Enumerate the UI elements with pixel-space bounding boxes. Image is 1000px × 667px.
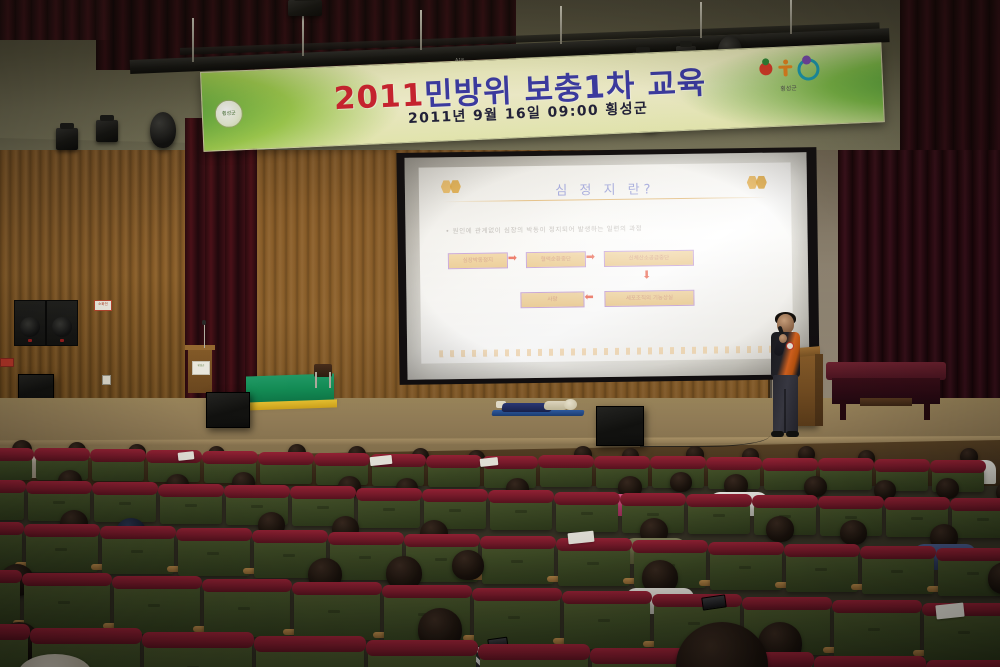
attendee-head: [804, 476, 827, 497]
piano-bench: [860, 398, 912, 406]
stage-light-12: [288, 0, 322, 16]
seat[interactable]: [710, 548, 782, 590]
banner-left-seal: 횡성군: [214, 99, 243, 128]
seat[interactable]: [294, 588, 380, 640]
attendee-head: [452, 550, 484, 580]
seat[interactable]: [358, 494, 420, 528]
piano-leg-left: [840, 400, 846, 420]
flow-box-2: 혈액순환중단: [526, 251, 586, 268]
flow-box-3: 신체산소공급중단: [604, 250, 694, 267]
seat[interactable]: [368, 648, 476, 667]
logo-circle-icon: [797, 58, 820, 81]
paper-sheet: [178, 451, 195, 461]
truss-drop-cable-1: [192, 18, 194, 62]
truss-drop-cable-6: [790, 0, 792, 34]
seat[interactable]: [24, 579, 110, 631]
presentation-slide: 심 정 지 란? • 원인에 관계없이 심장의 박동이 정지되어 발생하는 일련…: [419, 162, 794, 363]
wall-outlet: [102, 375, 111, 385]
slide-footer-pattern: [439, 346, 775, 358]
attendee-head: [670, 472, 692, 492]
projection-screen: 심 정 지 란? • 원인에 관계없이 심장의 박동이 정지되어 발생하는 일련…: [404, 152, 809, 380]
presenter-badge: [786, 342, 794, 350]
audience-seating: [0, 432, 1000, 667]
moving-head-light-1: [150, 112, 176, 148]
cpr-training-manikin: [492, 398, 584, 420]
seat[interactable]: [428, 461, 480, 487]
flow-arrow-1: ➡: [508, 253, 517, 264]
flow-arrow-down: ⬇: [642, 270, 651, 281]
presenter-hand: [779, 334, 787, 343]
seat[interactable]: [556, 498, 618, 532]
side-lectern-plate: 횡성군: [192, 361, 210, 375]
stage-left-wood-wall: [0, 150, 200, 400]
truss-drop-cable-4: [560, 6, 562, 44]
truss-drop-cable-2: [302, 14, 304, 56]
lectern-side-panel: [815, 354, 823, 426]
seat[interactable]: [474, 594, 560, 646]
wall-mounted-speaker-right: [46, 300, 78, 346]
side-lectern-top: [185, 345, 215, 350]
presenter-legs: [773, 375, 798, 433]
seat[interactable]: [820, 464, 872, 490]
curtain-upper-left: [0, 0, 110, 40]
side-lectern: 횡성군: [188, 345, 212, 393]
side-lectern-plate-text: 횡성군: [193, 362, 209, 368]
seat[interactable]: [256, 644, 364, 667]
slide-flow-diagram: 심장박동정지 ➡ 혈액순환중단 ➡ 신체산소공급중단 ⬇ 세포조직의 기능상실 …: [444, 249, 775, 332]
fire-hydrant-sign-label: 소화전: [95, 301, 111, 308]
banner-left-seal-text: 횡성군: [216, 109, 242, 117]
manikin-head: [564, 399, 577, 410]
fire-hydrant-sign: 소화전: [94, 300, 112, 311]
seat[interactable]: [952, 504, 1000, 538]
attendee-head: [936, 478, 959, 499]
piano-leg-right: [924, 400, 930, 420]
flow-box-4: 세포조직의 기능상실: [604, 290, 694, 307]
seat[interactable]: [0, 576, 20, 628]
attendee-head: [840, 520, 867, 545]
curtain-upper-right: [900, 0, 1000, 150]
seat[interactable]: [26, 530, 98, 572]
slide-bullet-text: • 원인에 관계없이 심장의 박동이 정지되어 발생하는 일련의 과정: [445, 221, 773, 236]
seat[interactable]: [260, 458, 312, 484]
seat[interactable]: [834, 606, 920, 658]
seat[interactable]: [102, 532, 174, 574]
flow-arrow-left: ⬅: [584, 292, 593, 303]
flow-arrow-2: ➡: [586, 252, 595, 263]
seat[interactable]: [540, 461, 592, 487]
flow-box-5: 사망: [520, 291, 584, 308]
flow-box-1: 심장박동정지: [448, 252, 508, 269]
seat[interactable]: [564, 597, 650, 649]
seat[interactable]: [558, 544, 630, 586]
county-logo-caption: 횡성군: [780, 83, 797, 93]
microphone-stand: [204, 322, 205, 348]
seat[interactable]: [482, 542, 554, 584]
truss-drop-cable-5: [700, 2, 702, 38]
seat[interactable]: [480, 652, 588, 667]
seat[interactable]: [92, 455, 144, 481]
county-logo: 횡성군: [759, 56, 821, 99]
seat[interactable]: [94, 488, 156, 522]
truss-drop-cable-3: [420, 10, 422, 50]
upright-piano: [826, 362, 946, 416]
stage-chair: [312, 364, 334, 388]
seat[interactable]: [924, 609, 1000, 661]
wall-marker-red: [0, 358, 14, 367]
paper-sheet: [935, 603, 964, 620]
seat[interactable]: [490, 496, 552, 530]
seat[interactable]: [178, 534, 250, 576]
seat[interactable]: [204, 585, 290, 637]
seat[interactable]: [0, 454, 32, 480]
chair-leg-right: [329, 372, 331, 388]
seat[interactable]: [114, 582, 200, 634]
seat[interactable]: [862, 552, 934, 594]
seat[interactable]: [144, 640, 252, 667]
chair-leg-left: [315, 372, 317, 388]
auditorium-photo: 소화전 A18 9 10 11 12 2011민방위 보충1차 교육 2011년…: [0, 0, 1000, 667]
logo-flower-icon: [759, 62, 773, 76]
stage-light-11: [96, 120, 118, 142]
presenter: [762, 314, 808, 442]
attendee-head: [766, 516, 794, 542]
wall-mounted-speaker-left: [14, 300, 46, 346]
seat[interactable]: [160, 490, 222, 524]
seat[interactable]: [688, 500, 750, 534]
seat[interactable]: [0, 486, 24, 520]
stage-monitor-speaker-left: [206, 392, 250, 428]
seat[interactable]: [786, 550, 858, 592]
logo-person-icon: [778, 59, 793, 77]
stage-light-10: [56, 128, 78, 150]
